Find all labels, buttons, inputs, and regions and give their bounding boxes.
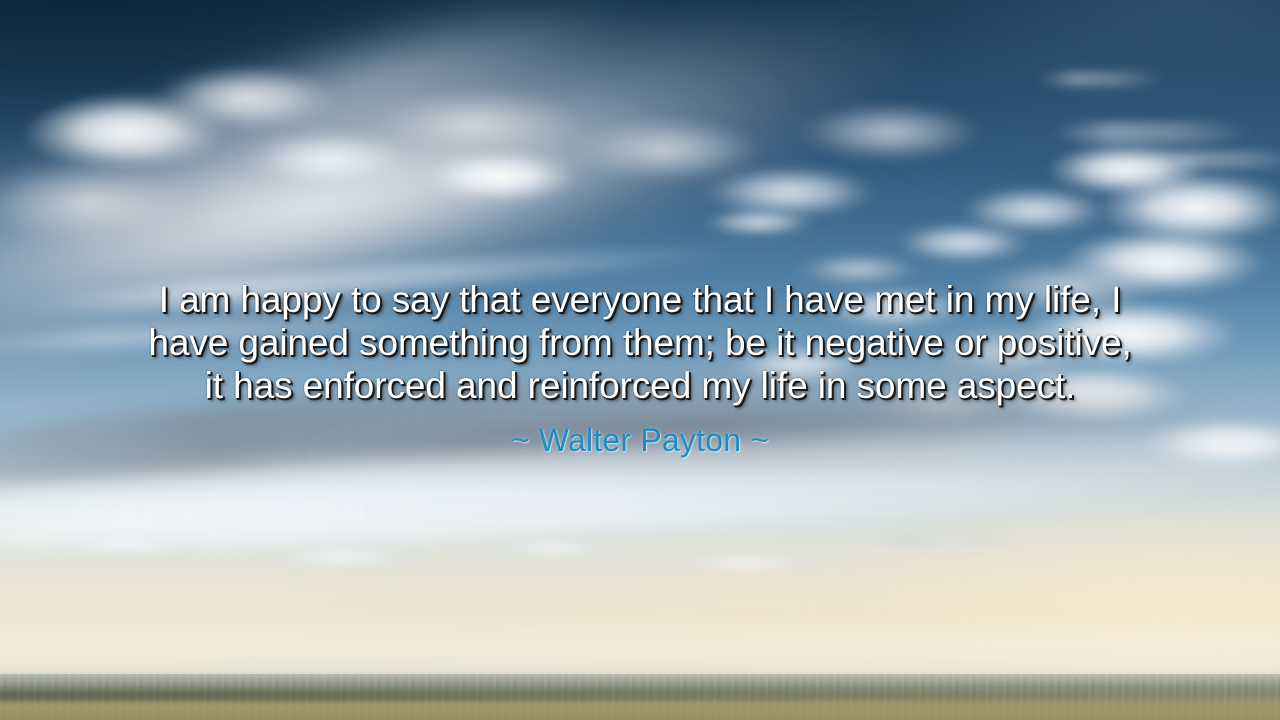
cloud-puff-low-3 — [486, 540, 627, 559]
cloud-puff-low-2 — [256, 547, 435, 569]
cloud-puff-right-6 — [896, 223, 1037, 266]
cloud-wisp-upper-right-1 — [1050, 122, 1255, 144]
cloud-puff-left-2 — [154, 65, 346, 137]
cloud-puff-center-4 — [794, 101, 986, 166]
land-foreground-field — [0, 703, 1280, 720]
cloud-wisp-upper-right-3 — [1037, 72, 1165, 86]
quote-attribution: ~ Walter Payton ~ — [46, 421, 1234, 459]
land-dark-ridge — [0, 690, 1280, 701]
cloud-puff-right-15 — [704, 209, 819, 238]
quote-wallpaper: I am happy to say that everyone that I h… — [0, 0, 1280, 720]
cloud-puff-center-1 — [422, 151, 588, 209]
cloud-puff-low-1 — [51, 533, 205, 557]
quote-block: I am happy to say that everyone that I h… — [0, 278, 1280, 459]
quote-text: I am happy to say that everyone that I h… — [46, 278, 1234, 407]
